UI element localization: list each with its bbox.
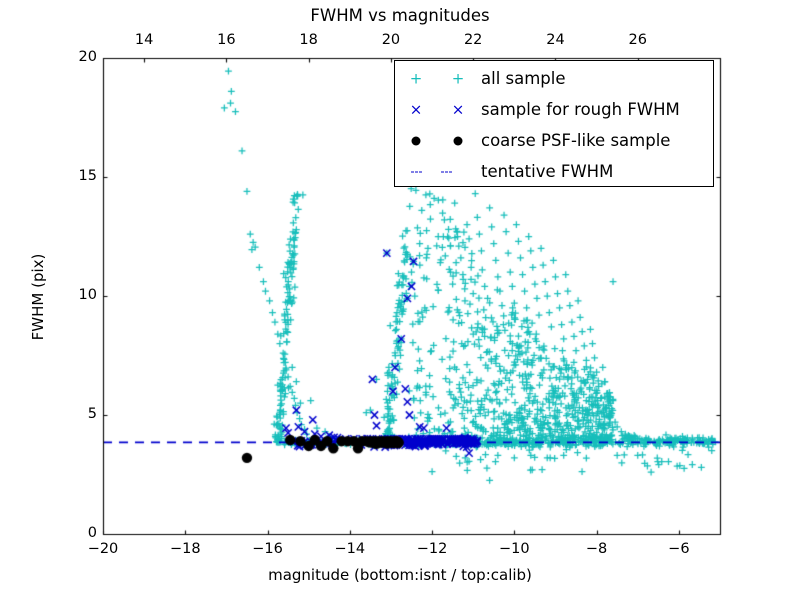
x-tick-label-top-1: 16 <box>186 32 266 48</box>
legend-label-all-sample: all sample <box>481 69 566 88</box>
legend: + + all sample × × sample for rough FWHM… <box>394 60 714 187</box>
legend-marker-dashed-line <box>395 156 481 187</box>
x-tick-label-bottom-7: −6 <box>639 541 719 557</box>
x-tick-label-bottom-2: −16 <box>228 541 308 557</box>
x-tick-label-top-4: 22 <box>433 32 513 48</box>
legend-marker-cross: × × <box>395 94 481 125</box>
x-tick-label-top-5: 24 <box>515 32 595 48</box>
x-tick-label-bottom-4: −12 <box>392 541 472 557</box>
legend-marker-plus: + + <box>395 63 481 94</box>
y-tick-label-15: 15 <box>37 168 97 184</box>
x-tick-label-bottom-3: −14 <box>310 541 390 557</box>
x-tick-label-bottom-1: −18 <box>145 541 225 557</box>
x-tick-label-top-0: 14 <box>104 32 184 48</box>
x-tick-label-bottom-5: −10 <box>474 541 554 557</box>
legend-label-tentative-fwhm: tentative FWHM <box>481 162 613 181</box>
chart-title: FWHM vs magnitudes <box>0 6 800 25</box>
legend-label-rough-fwhm: sample for rough FWHM <box>481 100 680 119</box>
x-tick-label-top-3: 20 <box>351 32 431 48</box>
legend-item-rough-fwhm: × × sample for rough FWHM <box>395 94 713 125</box>
legend-item-psf-like: coarse PSF-like sample <box>395 125 713 156</box>
x-tick-label-top-6: 26 <box>598 32 678 48</box>
y-tick-label-20: 20 <box>37 49 97 65</box>
legend-label-psf-like: coarse PSF-like sample <box>481 131 670 150</box>
figure: FWHM vs magnitudes magnitude (bottom:isn… <box>0 0 800 600</box>
x-axis-label: magnitude (bottom:isnt / top:calib) <box>0 566 800 584</box>
y-tick-label-0: 0 <box>37 525 97 541</box>
x-tick-label-top-2: 18 <box>269 32 349 48</box>
y-tick-label-5: 5 <box>37 406 97 422</box>
y-tick-label-10: 10 <box>37 287 97 303</box>
legend-item-tentative-fwhm: tentative FWHM <box>395 156 713 187</box>
x-tick-label-bottom-6: −8 <box>557 541 637 557</box>
legend-item-all-sample: + + all sample <box>395 63 713 94</box>
x-tick-label-bottom-0: −20 <box>63 541 143 557</box>
legend-marker-dot <box>395 125 481 156</box>
